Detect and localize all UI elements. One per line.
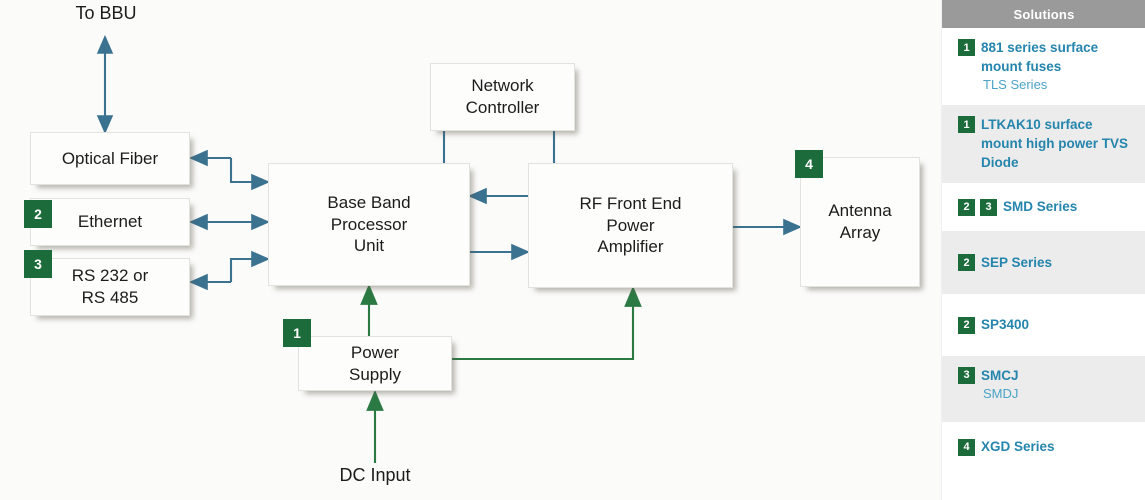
solutions-sidebar: Solutions 1 881 series surface mount fus… xyxy=(941,0,1145,500)
solution-title[interactable]: SEP Series xyxy=(981,253,1052,272)
solution-text: SMD Series xyxy=(1003,197,1077,216)
node-base-band-processor-unit: Base Band Processor Unit xyxy=(268,163,470,286)
badge-rs232: 3 xyxy=(24,250,52,278)
node-rf-front-end-power-amplifier: RF Front End Power Amplifier xyxy=(528,163,733,288)
solution-text: SEP Series xyxy=(981,253,1052,272)
node-ethernet: Ethernet xyxy=(30,198,190,246)
solution-badges: 2 xyxy=(958,253,975,271)
solution-text: SP3400 xyxy=(981,315,1029,334)
solution-title[interactable]: XGD Series xyxy=(981,437,1055,456)
list-item[interactable]: 3 SMCJ SMDJ xyxy=(942,356,1145,422)
solution-title[interactable]: SP3400 xyxy=(981,315,1029,334)
solution-badge: 3 xyxy=(980,199,997,216)
solution-badge: 4 xyxy=(958,439,975,456)
solution-badges: 3 xyxy=(958,366,975,384)
list-item[interactable]: 2 SP3400 xyxy=(942,294,1145,356)
badge-power-supply: 1 xyxy=(283,319,311,347)
node-optical-fiber: Optical Fiber xyxy=(30,132,190,185)
solution-badge: 3 xyxy=(958,367,975,384)
solution-badges: 2 3 xyxy=(958,198,997,216)
label-dc-input: DC Input xyxy=(310,465,440,486)
solution-subtitle[interactable]: SMDJ xyxy=(981,385,1019,404)
list-item[interactable]: 1 881 series surface mount fuses TLS Ser… xyxy=(942,28,1145,105)
solution-badge: 1 xyxy=(958,39,975,56)
solution-title[interactable]: LTKAK10 surface mount high power TVS Dio… xyxy=(981,115,1132,172)
label-to-bbu: To BBU xyxy=(42,3,170,24)
solution-badges: 4 xyxy=(958,438,975,456)
badge-antenna: 4 xyxy=(795,150,823,178)
solution-badges: 1 xyxy=(958,38,975,56)
sidebar-header: Solutions xyxy=(942,0,1145,28)
solution-subtitle[interactable]: TLS Series xyxy=(981,76,1132,95)
solution-text: XGD Series xyxy=(981,437,1055,456)
solution-badges: 2 xyxy=(958,316,975,334)
list-item[interactable]: 4 XGD Series xyxy=(942,422,1145,472)
solution-title[interactable]: 881 series surface mount fuses xyxy=(981,38,1132,76)
solution-badges: 1 xyxy=(958,115,975,133)
node-power-supply: Power Supply xyxy=(298,336,452,391)
solution-text: 881 series surface mount fuses TLS Serie… xyxy=(981,38,1132,95)
solution-title[interactable]: SMD Series xyxy=(1003,197,1077,216)
screenshot-root: To BBU Optical Fiber Ethernet 2 RS 232 o… xyxy=(0,0,1145,500)
block-diagram: To BBU Optical Fiber Ethernet 2 RS 232 o… xyxy=(0,0,940,500)
node-network-controller: Network Controller xyxy=(430,63,575,131)
node-rs232-rs485: RS 232 or RS 485 xyxy=(30,258,190,316)
list-item[interactable]: 1 LTKAK10 surface mount high power TVS D… xyxy=(942,105,1145,182)
solution-text: LTKAK10 surface mount high power TVS Dio… xyxy=(981,115,1132,172)
solution-title[interactable]: SMCJ xyxy=(981,366,1019,385)
solution-text: SMCJ SMDJ xyxy=(981,366,1019,404)
solution-badge: 1 xyxy=(958,116,975,133)
list-item[interactable]: 2 SEP Series xyxy=(942,231,1145,294)
badge-ethernet: 2 xyxy=(24,200,52,228)
list-item[interactable]: 2 3 SMD Series xyxy=(942,183,1145,231)
solution-badge: 2 xyxy=(958,199,975,216)
solution-badge: 2 xyxy=(958,254,975,271)
solution-badge: 2 xyxy=(958,317,975,334)
sidebar-title: Solutions xyxy=(1013,7,1074,22)
